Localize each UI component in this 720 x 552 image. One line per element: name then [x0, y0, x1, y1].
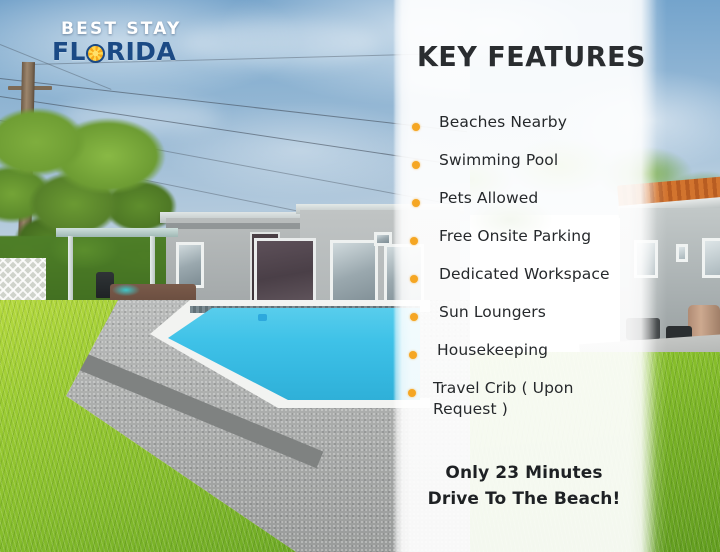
list-item: Swimming Pool: [393, 150, 653, 188]
cta-line-1: Only 23 Minutes: [393, 460, 655, 486]
logo-florida-suffix: RIDA: [106, 39, 176, 65]
feature-label: Sun Loungers: [439, 302, 546, 323]
brand-logo[interactable]: BEST STAY FL RIDA: [52, 20, 192, 66]
cta-text: Only 23 Minutes Drive To The Beach!: [393, 460, 655, 512]
list-item: Pets Allowed: [393, 188, 653, 226]
feature-label: Housekeeping: [437, 340, 548, 361]
bullet-icon: [412, 123, 420, 131]
bullet-icon: [410, 313, 418, 321]
bullet-icon: [408, 389, 416, 397]
bullet-icon: [410, 275, 418, 283]
features-panel: KEY FEATURES Beaches Nearby Swimming Poo…: [393, 0, 720, 552]
feature-list: Beaches Nearby Swimming Pool Pets Allowe…: [393, 112, 653, 420]
house-window: [374, 232, 392, 246]
list-item: Beaches Nearby: [393, 112, 653, 150]
list-item: Dedicated Workspace: [393, 264, 653, 302]
bullet-icon: [410, 237, 418, 245]
feature-label: Pets Allowed: [439, 188, 538, 209]
feature-label: Swimming Pool: [439, 150, 558, 171]
cta-line-2: Drive To The Beach!: [393, 486, 655, 512]
feature-label: Dedicated Workspace: [439, 264, 610, 285]
bullet-icon: [409, 351, 417, 359]
listing-graphic: BEST STAY FL RIDA KEY FEATURES Beaches N…: [0, 0, 720, 552]
logo-florida-prefix: FL: [52, 39, 86, 65]
list-item: Free Onsite Parking: [393, 226, 653, 264]
house-window: [330, 240, 378, 310]
feature-label: Beaches Nearby: [439, 112, 567, 133]
list-item: Sun Loungers: [393, 302, 653, 340]
bullet-icon: [412, 199, 420, 207]
logo-line-florida: FL RIDA: [52, 39, 192, 65]
list-item: Housekeeping: [393, 340, 653, 378]
list-item: Travel Crib ( Upon Request ): [393, 378, 653, 420]
bullet-icon: [412, 161, 420, 169]
pool-float: [258, 314, 267, 321]
carport-roof: [56, 228, 178, 237]
feature-label: Free Onsite Parking: [439, 226, 591, 247]
house-window: [176, 242, 204, 288]
sun-icon: [86, 44, 105, 63]
page-title: KEY FEATURES: [417, 40, 646, 73]
feature-label: Travel Crib ( Upon Request ): [433, 378, 593, 420]
